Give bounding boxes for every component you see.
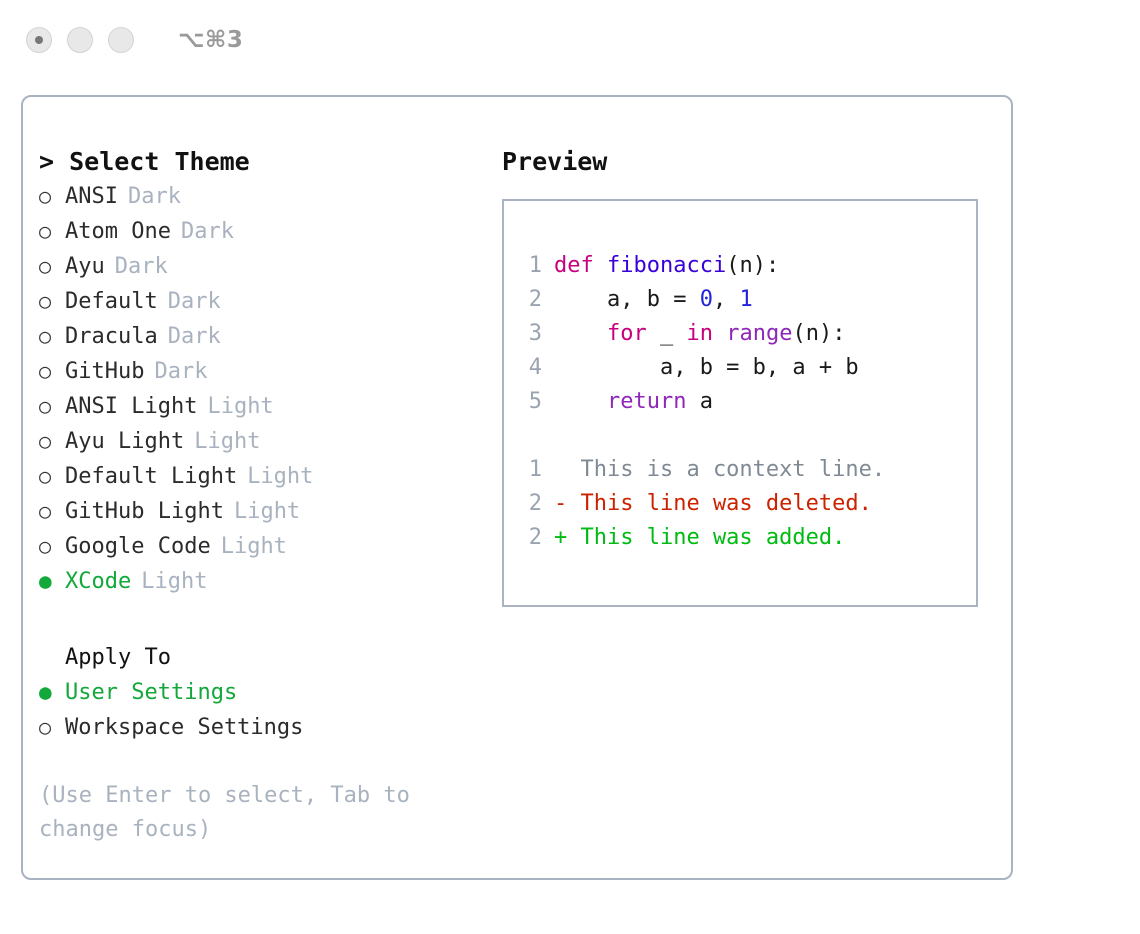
theme-variant-badge: Dark: [154, 355, 207, 389]
theme-list: ○ANSIDark○Atom OneDark○AyuDark○DefaultDa…: [39, 179, 489, 599]
diff-line: 2- This line was deleted.: [516, 487, 976, 521]
code-tokens: for _ in range(n):: [554, 317, 845, 351]
radio-unselected-icon: ○: [39, 354, 65, 388]
radio-unselected-icon: ○: [39, 529, 65, 563]
apply-to-list: ●User Settings○Workspace Settings: [39, 675, 489, 745]
theme-name: Ayu Light: [65, 425, 184, 459]
app-window: ⌥⌘3 > Select Theme ○ANSIDark○Atom OneDar…: [0, 0, 1140, 934]
code-token: a, b =: [554, 287, 700, 312]
apply-to-label: User Settings: [65, 676, 237, 710]
code-token: for: [607, 321, 647, 346]
radio-unselected-icon: ○: [39, 389, 65, 423]
window-controls: [26, 27, 134, 53]
line-number: 1: [516, 453, 542, 487]
diff-text: + This line was added.: [554, 521, 845, 555]
theme-name: ANSI Light: [65, 390, 197, 424]
window-dot-active-icon[interactable]: [26, 27, 52, 53]
theme-variant-badge: Dark: [168, 285, 221, 319]
window-dot-third-icon[interactable]: [108, 27, 134, 53]
line-number: 2: [516, 521, 542, 555]
theme-list-item[interactable]: ○Atom OneDark: [39, 214, 489, 249]
radio-unselected-icon: ○: [39, 284, 65, 318]
apply-to-item[interactable]: ●User Settings: [39, 675, 489, 710]
keyboard-shortcut-label: ⌥⌘3: [178, 27, 243, 53]
theme-list-item[interactable]: ○Ayu LightLight: [39, 424, 489, 459]
code-spacer: [516, 419, 976, 453]
code-token: a, b = b, a + b: [554, 355, 859, 380]
code-tokens: a, b = 0, 1: [554, 283, 753, 317]
theme-variant-badge: Dark: [181, 215, 234, 249]
line-number: 5: [516, 385, 542, 419]
theme-name: ANSI: [65, 180, 118, 214]
code-line: 4 a, b = b, a + b: [516, 351, 976, 385]
theme-name: Default Light: [65, 460, 237, 494]
code-token: [554, 321, 607, 346]
theme-variant-badge: Light: [194, 425, 260, 459]
radio-unselected-icon: ○: [39, 424, 65, 458]
radio-unselected-icon: ○: [39, 179, 65, 213]
theme-name: GitHub: [65, 355, 144, 389]
theme-name: Atom One: [65, 215, 171, 249]
code-token: range: [726, 321, 792, 346]
apply-to-heading: Apply To: [39, 641, 489, 675]
dialog-panel: > Select Theme ○ANSIDark○Atom OneDark○Ay…: [21, 95, 1013, 880]
theme-list-item[interactable]: ○Default LightLight: [39, 459, 489, 494]
code-line: 1def fibonacci(n):: [516, 249, 976, 283]
code-token: [554, 389, 607, 414]
theme-list-item[interactable]: ○ANSI LightLight: [39, 389, 489, 424]
theme-variant-badge: Light: [221, 530, 287, 564]
code-token: (n):: [726, 253, 779, 278]
code-token: return: [607, 389, 686, 414]
code-token: (n):: [792, 321, 845, 346]
line-number: 4: [516, 351, 542, 385]
theme-list-item[interactable]: ●XCodeLight: [39, 564, 489, 599]
theme-variant-badge: Light: [141, 565, 207, 599]
radio-selected-icon: ●: [39, 675, 65, 709]
code-token: def: [554, 253, 607, 278]
diff-line: 2+ This line was added.: [516, 521, 976, 555]
radio-unselected-icon: ○: [39, 214, 65, 248]
window-dot-inner: [35, 36, 43, 44]
code-line: 3 for _ in range(n):: [516, 317, 976, 351]
theme-name: Ayu: [65, 250, 105, 284]
radio-unselected-icon: ○: [39, 319, 65, 353]
code-block: 1def fibonacci(n):2 a, b = 0, 13 for _ i…: [516, 249, 976, 419]
theme-variant-badge: Light: [247, 460, 313, 494]
theme-name: GitHub Light: [65, 495, 224, 529]
diff-block: 1 This is a context line.2- This line wa…: [516, 453, 976, 555]
radio-unselected-icon: ○: [39, 494, 65, 528]
radio-unselected-icon: ○: [39, 710, 65, 744]
radio-selected-icon: ●: [39, 564, 65, 598]
theme-variant-badge: Light: [234, 495, 300, 529]
theme-list-item[interactable]: ○DraculaDark: [39, 319, 489, 354]
code-preview-panel: 1def fibonacci(n):2 a, b = 0, 13 for _ i…: [502, 199, 978, 607]
code-line: 2 a, b = 0, 1: [516, 283, 976, 317]
keyboard-hint-text: (Use Enter to select, Tab to change focu…: [39, 779, 439, 847]
diff-text: - This line was deleted.: [554, 487, 872, 521]
theme-picker-column: > Select Theme ○ANSIDark○Atom OneDark○Ay…: [39, 145, 489, 847]
theme-name: Dracula: [65, 320, 158, 354]
code-token: ,: [713, 287, 740, 312]
theme-variant-badge: Dark: [115, 250, 168, 284]
code-token: [713, 321, 726, 346]
theme-name: Default: [65, 285, 158, 319]
theme-list-item[interactable]: ○Google CodeLight: [39, 529, 489, 564]
apply-to-item[interactable]: ○Workspace Settings: [39, 710, 489, 745]
preview-heading: Preview: [502, 145, 992, 179]
theme-list-item[interactable]: ○GitHub LightLight: [39, 494, 489, 529]
code-line: 5 return a: [516, 385, 976, 419]
code-token: fibonacci: [607, 253, 726, 278]
code-tokens: return a: [554, 385, 713, 419]
code-tokens: a, b = b, a + b: [554, 351, 859, 385]
line-number: 3: [516, 317, 542, 351]
line-number: 2: [516, 283, 542, 317]
theme-variant-badge: Light: [207, 390, 273, 424]
line-number: 1: [516, 249, 542, 283]
theme-variant-badge: Dark: [168, 320, 221, 354]
code-tokens: def fibonacci(n):: [554, 249, 779, 283]
theme-name: Google Code: [65, 530, 211, 564]
line-number: 2: [516, 487, 542, 521]
diff-line: 1 This is a context line.: [516, 453, 976, 487]
theme-variant-badge: Dark: [128, 180, 181, 214]
code-token: _: [647, 321, 687, 346]
code-token: 1: [739, 287, 752, 312]
title-bar: ⌥⌘3: [0, 0, 1140, 80]
theme-list-item[interactable]: ○GitHubDark: [39, 354, 489, 389]
theme-list-item[interactable]: ○ANSIDark: [39, 179, 489, 214]
code-token: a: [686, 389, 713, 414]
code-token: in: [686, 321, 713, 346]
preview-column: Preview 1def fibonacci(n):2 a, b = 0, 13…: [502, 145, 992, 607]
select-theme-heading: > Select Theme: [39, 145, 489, 179]
radio-unselected-icon: ○: [39, 459, 65, 493]
theme-list-item[interactable]: ○AyuDark: [39, 249, 489, 284]
code-token: 0: [700, 287, 713, 312]
window-dot-second-icon[interactable]: [67, 27, 93, 53]
theme-name: XCode: [65, 565, 131, 599]
radio-unselected-icon: ○: [39, 249, 65, 283]
theme-list-item[interactable]: ○DefaultDark: [39, 284, 489, 319]
spacer: [39, 599, 489, 641]
apply-to-label: Workspace Settings: [65, 711, 303, 745]
diff-text: This is a context line.: [554, 453, 885, 487]
